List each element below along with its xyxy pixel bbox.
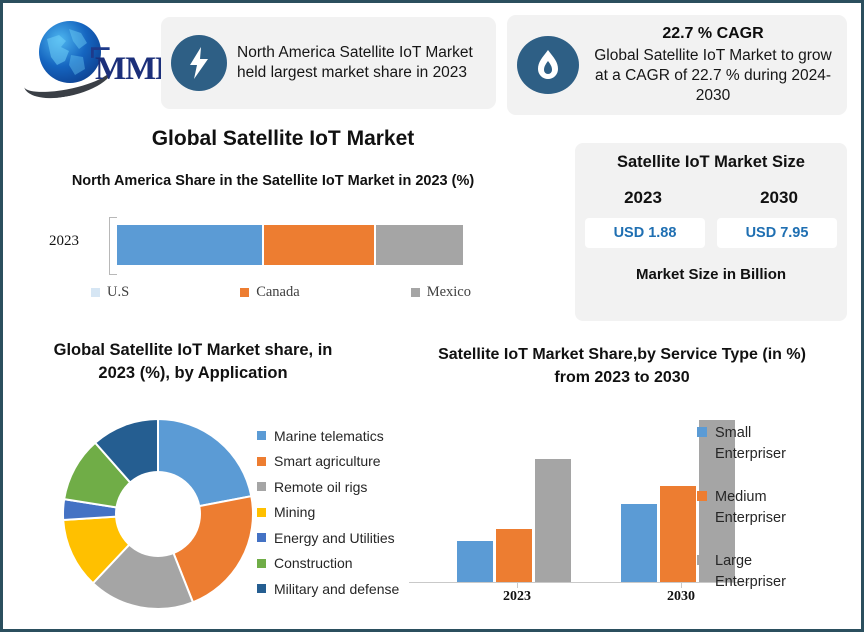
service-bar-small xyxy=(621,504,657,582)
donut-legend-label: Mining xyxy=(274,504,315,520)
legend-swatch-icon xyxy=(257,559,266,568)
donut-legend-label: Smart agriculture xyxy=(274,453,381,469)
page-title: Global Satellite IoT Market xyxy=(3,127,563,151)
market-size-title: Satellite IoT Market Size xyxy=(575,153,847,172)
na-legend-label: U.S xyxy=(107,284,129,301)
service-legend-label: Large Enterpriser xyxy=(715,551,786,593)
service-legend-item: Medium Enterpriser xyxy=(697,487,857,529)
na-legend-item: U.S xyxy=(91,284,129,301)
na-legend-label: Mexico xyxy=(427,284,471,301)
mmr-logo: ⌐ MMR xyxy=(17,15,157,93)
na-legend: U.SCanadaMexico xyxy=(91,284,471,301)
na-chart-title: North America Share in the Satellite IoT… xyxy=(63,171,483,192)
lightning-bolt-icon xyxy=(171,35,227,91)
legend-swatch-icon xyxy=(257,431,266,440)
na-legend-label: Canada xyxy=(256,284,299,301)
market-size-value-2030: USD 7.95 xyxy=(717,218,837,248)
bolt-glyph xyxy=(186,46,212,80)
donut-legend-label: Military and defense xyxy=(274,581,399,597)
legend-swatch-icon xyxy=(257,584,266,593)
axis-tick xyxy=(681,583,682,588)
donut-legend-label: Remote oil rigs xyxy=(274,479,367,495)
legend-swatch-icon xyxy=(257,508,266,517)
flame-glyph xyxy=(536,49,560,81)
legend-swatch-icon xyxy=(240,288,249,297)
fact-card-north-america: North America Satellite IoT Market held … xyxy=(161,17,496,109)
donut-chart xyxy=(61,417,255,611)
fact-card-cagr: 22.7 % CAGR Global Satellite IoT Market … xyxy=(507,15,847,115)
service-xlabel: 2023 xyxy=(503,589,531,605)
service-legend-label: Medium Enterpriser xyxy=(715,487,786,529)
donut-legend-label: Energy and Utilities xyxy=(274,530,395,546)
legend-swatch-icon xyxy=(257,533,266,542)
legend-swatch-icon xyxy=(411,288,420,297)
legend-swatch-icon xyxy=(697,491,707,501)
na-segment-us xyxy=(117,225,262,265)
fact-card-2-body: 22.7 % CAGR Global Satellite IoT Market … xyxy=(589,24,837,106)
donut-legend-label: Construction xyxy=(274,555,353,571)
market-size-year-2030: 2030 xyxy=(711,188,847,208)
donut-chart-title: Global Satellite IoT Market share, in 20… xyxy=(33,339,353,385)
service-bar-medium xyxy=(660,486,696,582)
service-bar-group xyxy=(457,459,571,582)
donut-legend-label: Marine telematics xyxy=(274,428,384,444)
service-legend-item: Large Enterpriser xyxy=(697,551,857,593)
service-legend-item: Small Enterpriser xyxy=(697,423,857,465)
cagr-heading: 22.7 % CAGR xyxy=(589,24,837,45)
donut-hole xyxy=(115,471,201,557)
market-size-card: Satellite IoT Market Size 2023 2030 USD … xyxy=(575,143,847,321)
market-size-years: 2023 2030 xyxy=(575,188,847,208)
service-bar-small xyxy=(457,541,493,582)
na-legend-item: Mexico xyxy=(411,284,471,301)
na-category-label: 2023 xyxy=(49,233,79,250)
service-legend-label: Small Enterpriser xyxy=(715,423,786,465)
market-size-footer: Market Size in Billion xyxy=(575,266,847,283)
infographic-page: ⌐ MMR North America Satellite IoT Market… xyxy=(0,0,864,632)
na-legend-item: Canada xyxy=(240,284,299,301)
legend-swatch-icon xyxy=(91,288,100,297)
service-chart-title: Satellite IoT Market Share,by Service Ty… xyxy=(427,343,817,389)
service-bar-medium xyxy=(496,529,532,582)
flame-icon xyxy=(517,36,579,94)
axis-tick xyxy=(517,583,518,588)
fact-card-2-text: Global Satellite IoT Market to grow at a… xyxy=(594,47,832,104)
service-bar-large xyxy=(535,459,571,582)
legend-swatch-icon xyxy=(257,482,266,491)
market-size-year-2023: 2023 xyxy=(575,188,711,208)
service-chart-legend: Small EnterpriserMedium EnterpriserLarge… xyxy=(697,423,857,615)
legend-swatch-icon xyxy=(257,457,266,466)
na-segment-mexico xyxy=(376,225,463,265)
market-size-value-2023: USD 1.88 xyxy=(585,218,705,248)
na-segment-canada xyxy=(264,225,373,265)
market-size-values: USD 1.88 USD 7.95 xyxy=(575,218,847,248)
na-stacked-bar xyxy=(117,225,463,265)
legend-swatch-icon xyxy=(697,427,707,437)
na-axis xyxy=(109,217,117,275)
fact-card-1-text: North America Satellite IoT Market held … xyxy=(237,43,486,83)
service-xlabel: 2030 xyxy=(667,589,695,605)
legend-swatch-icon xyxy=(697,555,707,565)
na-chart: 2023 xyxy=(91,217,471,277)
